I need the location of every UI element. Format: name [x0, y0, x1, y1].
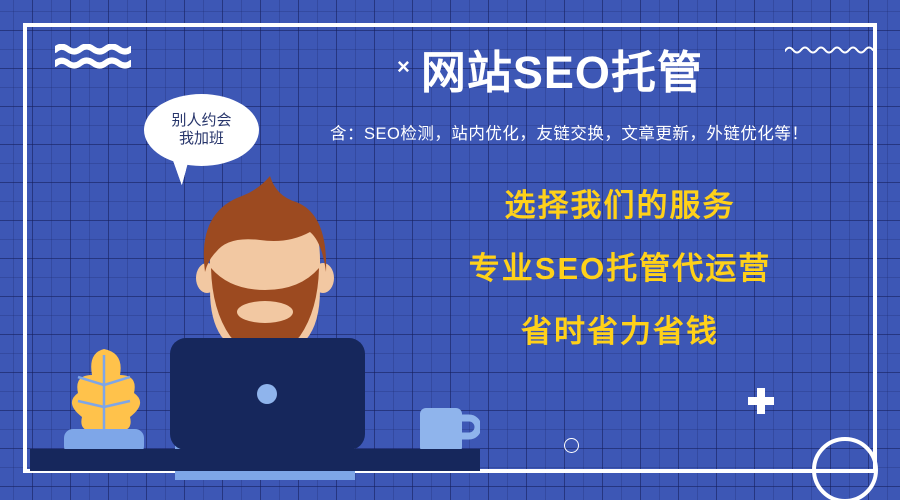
wave-line-icon	[785, 44, 873, 56]
slogan-line-1: 选择我们的服务	[420, 190, 820, 221]
potted-plant-icon	[52, 345, 157, 455]
wave-lines-icon	[55, 44, 131, 70]
laptop-icon	[170, 338, 365, 456]
x-mark-icon: ×	[397, 54, 411, 79]
title-text: 网站SEO托管	[421, 47, 703, 98]
headline-block: ×网站SEO托管	[340, 48, 760, 98]
plus-icon	[748, 388, 774, 414]
speech-bubble: 别人约会 我加班	[144, 94, 259, 166]
speech-bubble-line-2: 我加班	[171, 130, 231, 148]
slogan-block: 选择我们的服务 专业SEO托管代运营 省时省力省钱	[420, 190, 820, 347]
page-title: ×网站SEO托管	[340, 48, 760, 98]
speech-bubble-line-1: 别人约会	[171, 112, 231, 130]
small-circle-outline-icon	[564, 438, 579, 453]
speech-bubble-text: 别人约会 我加班	[171, 112, 231, 149]
slogan-line-3: 省时省力省钱	[420, 316, 820, 347]
slogan-line-2: 专业SEO托管代运营	[420, 253, 820, 284]
subtitle-text: 含：SEO检测，站内优化，友链交换，文章更新，外链优化等！	[330, 120, 890, 144]
coffee-mug-icon	[420, 408, 480, 453]
large-circle-outline-icon	[812, 437, 878, 500]
desk-surface	[30, 449, 480, 471]
seo-banner: ×网站SEO托管 含：SEO检测，站内优化，友链交换，文章更新，外链优化等！ 选…	[0, 0, 900, 500]
